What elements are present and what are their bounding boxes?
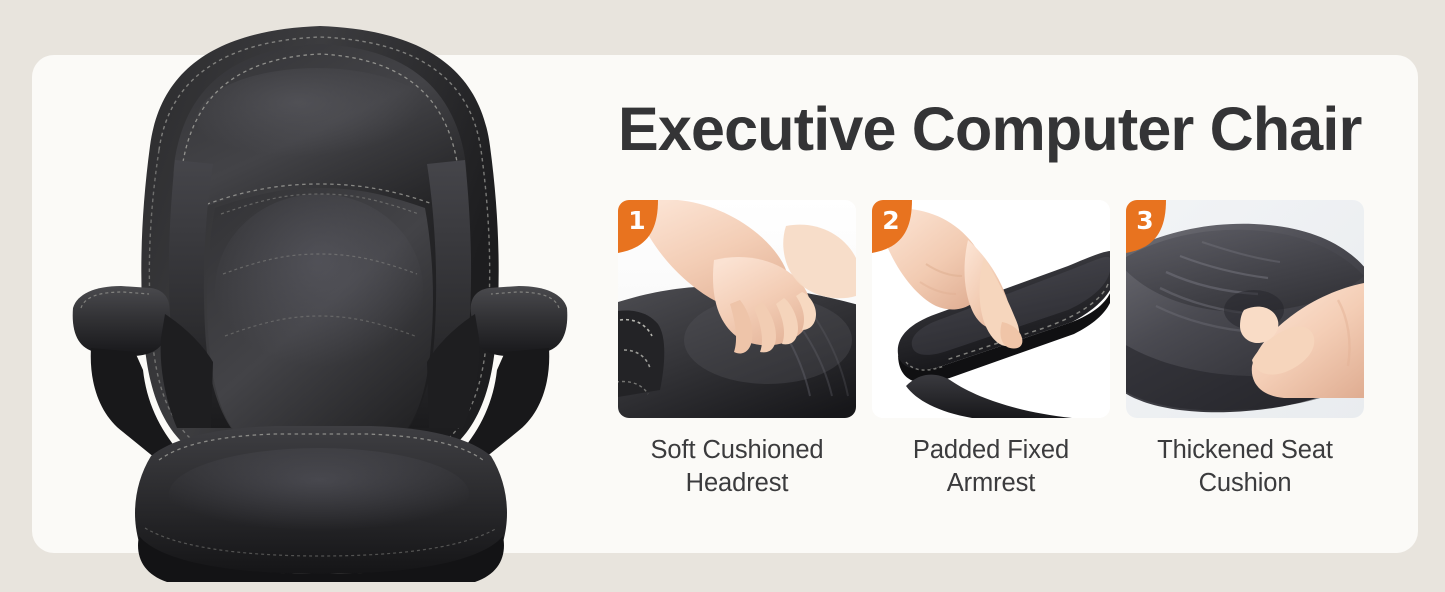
feature-badge-2: 2 bbox=[872, 200, 922, 255]
feature-thumbnail-armrest[interactable]: 2 bbox=[872, 200, 1110, 418]
feature-thumbnail-headrest[interactable]: 1 bbox=[618, 200, 856, 418]
feature-badge-1: 1 bbox=[618, 200, 668, 255]
feature-caption-armrest: Padded Fixed Armrest bbox=[866, 434, 1116, 499]
feature-list: 1 Soft Cushioned Headrest bbox=[618, 200, 1364, 499]
caption-line-1: Thickened Seat bbox=[1157, 436, 1333, 464]
caption-line-1: Padded Fixed bbox=[913, 436, 1069, 464]
caption-line-2: Headrest bbox=[686, 469, 789, 497]
feature-content-column: Executive Computer Chair bbox=[612, 55, 1364, 553]
feature-badge-3: 3 bbox=[1126, 200, 1176, 255]
feature-badge-number: 2 bbox=[872, 208, 910, 233]
caption-line-2: Cushion bbox=[1199, 469, 1292, 497]
feature-badge-number: 3 bbox=[1126, 208, 1164, 233]
feature-item-headrest[interactable]: 1 Soft Cushioned Headrest bbox=[618, 200, 856, 499]
feature-item-armrest[interactable]: 2 Padded Fixed Armrest bbox=[872, 200, 1110, 499]
page-title: Executive Computer Chair bbox=[618, 98, 1364, 160]
feature-thumbnail-seat-cushion[interactable]: 3 bbox=[1126, 200, 1364, 418]
feature-caption-seat-cushion: Thickened Seat Cushion bbox=[1120, 434, 1370, 499]
feature-item-seat-cushion[interactable]: 3 Thickened Seat Cushion bbox=[1126, 200, 1364, 499]
product-feature-banner: Executive Computer Chair bbox=[0, 0, 1445, 592]
caption-line-2: Armrest bbox=[947, 469, 1036, 497]
feature-caption-headrest: Soft Cushioned Headrest bbox=[612, 434, 862, 499]
feature-badge-number: 1 bbox=[618, 208, 656, 233]
caption-line-1: Soft Cushioned bbox=[651, 436, 824, 464]
